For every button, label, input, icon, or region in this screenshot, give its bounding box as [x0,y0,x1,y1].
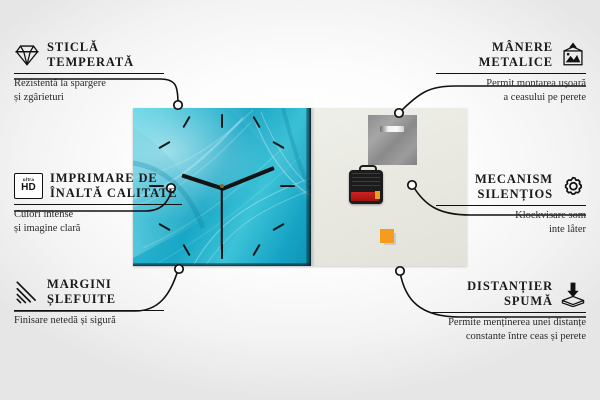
callout-marker-silent-mechanism [408,181,416,189]
ultra-hd-large-text: HD [21,183,36,194]
callout-marker-metal-hangers [395,109,403,117]
feature-metal-hangers: MÂNERE METALICE Permit montarea ușoară a… [436,40,586,104]
feature-subtitle-line-2: și imagine clară [14,222,182,236]
feature-subtitle-line-1: Finisare netedă și sigură [14,314,164,328]
feature-silent-mechanism: MECANISM SILENȚIOS Klockvisare som inte … [436,172,586,236]
feature-title-line-2: SILENȚIOS [478,187,554,201]
feature-title-line-2: ȘLEFUITE [47,292,116,306]
feature-rule [14,310,164,311]
bevel-lines-icon [14,279,40,305]
feature-tempered-glass: STICLĂ TEMPERATĂ Rezistentă la spargere … [14,40,164,104]
callout-marker-tempered-glass [174,101,182,109]
feature-hd-print: ultra HD IMPRIMARE DE ÎNALTĂ CALITATE Cu… [14,171,182,235]
feature-subtitle-line-1: Culori intense [14,208,182,222]
feature-subtitle-line-2: și zgârieturi [14,91,164,105]
feature-title-line-1: STICLĂ [47,40,99,54]
infographic-stage: STICLĂ TEMPERATĂ Rezistentă la spargere … [0,0,600,400]
feature-subtitle-line-2: constante între ceas și perete [432,330,586,344]
diamond-icon [14,42,40,68]
feature-title-line-2: SPUMĂ [504,294,553,308]
feature-subtitle-line-2: inte låter [436,223,586,237]
callout-marker-foam-spacer [396,267,404,275]
feature-subtitle-line-1: Klockvisare som [436,209,586,223]
feature-polished-edges: MARGINI ȘLEFUITE Finisare netedă și sigu… [14,277,164,328]
framed-picture-icon [560,42,586,68]
press-down-foam-icon [560,281,586,307]
feature-subtitle-line-1: Rezistentă la spargere [14,77,164,91]
ultra-hd-badge-icon: ultra HD [14,173,43,199]
feature-subtitle-line-1: Permite menținerea unei distanțe [432,316,586,330]
feature-rule [14,73,164,74]
feature-title-line-1: MÂNERE [492,40,553,54]
feature-rule [432,312,586,313]
feature-title-line-1: DISTANȚIER [467,279,553,293]
feature-title-line-1: MARGINI [47,277,112,291]
feature-title-line-2: TEMPERATĂ [47,55,134,69]
feature-title-line-2: METALICE [479,55,553,69]
feature-title-line-1: IMPRIMARE DE [50,171,158,185]
feature-foam-spacer: DISTANȚIER SPUMĂ Permite menținerea unei… [432,279,586,343]
feature-title-line-2: ÎNALTĂ CALITATE [50,186,178,200]
gear-icon [560,174,586,200]
feature-subtitle-line-2: a ceasului pe perete [436,91,586,105]
feature-rule [436,205,586,206]
feature-rule [14,204,182,205]
callout-marker-polished-edges [175,265,183,273]
feature-title-line-1: MECANISM [475,172,553,186]
feature-rule [436,73,586,74]
feature-subtitle-line-1: Permit montarea ușoară [436,77,586,91]
